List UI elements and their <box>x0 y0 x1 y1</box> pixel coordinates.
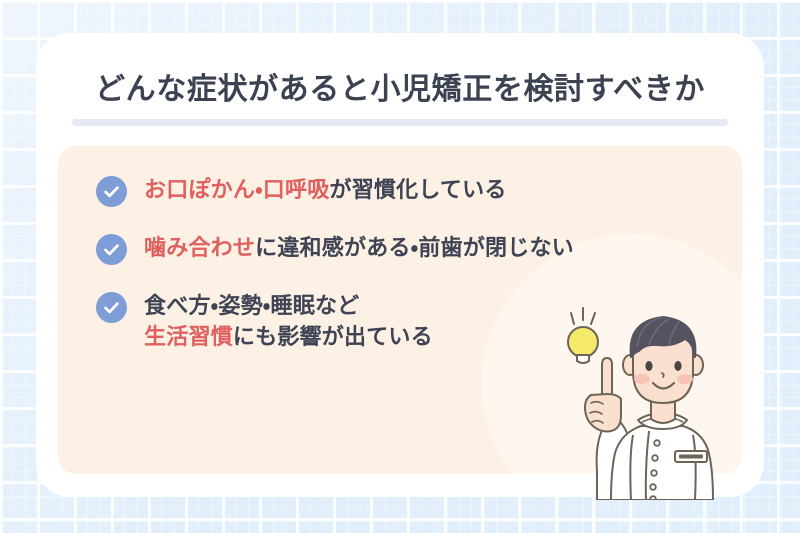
check-circle-icon <box>96 176 127 207</box>
list-item: 噛み合わせに違和感がある・前歯が閉じない <box>96 232 566 265</box>
lightbulb-rays <box>571 308 595 324</box>
eye-right <box>674 361 681 371</box>
list-item-label: 噛み合わせに違和感がある・前歯が閉じない <box>144 232 574 263</box>
pointing-hand <box>585 358 621 431</box>
highlight-text: お口ぽかん・口呼吸 <box>144 177 329 202</box>
normal-text: が習慣化している <box>329 177 506 202</box>
page-title-wrapper: どんな症状があると小児矯正を検討すべきか <box>36 71 764 109</box>
list-item: お口ぽかん・口呼吸が習慣化している <box>96 174 566 207</box>
blush-right <box>677 374 693 384</box>
list-item-line: お口ぽかん・口呼吸が習慣化している <box>144 174 507 205</box>
title-underline-divider <box>72 119 728 126</box>
eye-left <box>645 361 652 371</box>
list-item: 食べ方・姿勢・睡眠など 生活習慣にも影響が出ている <box>96 290 566 352</box>
dentist-pointing-illustration <box>545 295 745 500</box>
check-circle-icon <box>96 234 127 265</box>
list-item-line: 噛み合わせに違和感がある・前歯が閉じない <box>144 232 574 263</box>
screenshot-root: どんな症状があると小児矯正を検討すべきか お口ぽかん・口呼吸が習慣化している <box>0 0 800 533</box>
list-item-label: 食べ方・姿勢・睡眠など 生活習慣にも影響が出ている <box>144 290 433 352</box>
normal-text: 食べ方・姿勢・睡眠など <box>144 293 359 318</box>
check-circle-icon <box>96 292 127 323</box>
normal-text: に違和感がある・前歯が閉じない <box>255 235 574 260</box>
list-item-label: お口ぽかん・口呼吸が習慣化している <box>144 174 507 205</box>
list-item-line: 食べ方・姿勢・睡眠など <box>144 290 433 321</box>
symptom-list: お口ぽかん・口呼吸が習慣化している 噛み合わせに違和感がある・前歯が閉じない <box>96 174 566 352</box>
normal-text: にも影響が出ている <box>233 324 433 349</box>
highlight-text: 生活習慣 <box>144 324 233 349</box>
list-item-line: 生活習慣にも影響が出ている <box>144 321 433 352</box>
lightbulb-icon <box>568 327 598 363</box>
page-title: どんな症状があると小児矯正を検討すべきか <box>36 71 764 109</box>
blush-left <box>634 374 650 384</box>
name-badge <box>675 451 707 462</box>
highlight-text: 噛み合わせ <box>144 235 255 260</box>
